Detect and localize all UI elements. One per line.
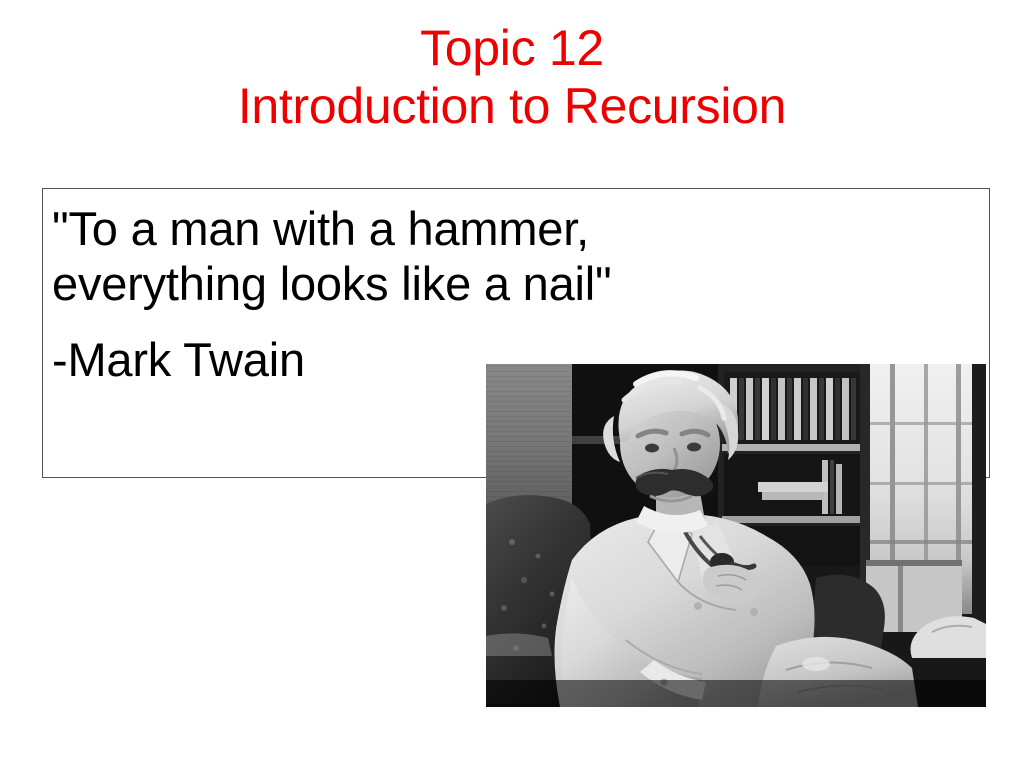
title-line-topic: Topic 12 bbox=[0, 20, 1024, 78]
title-line-subject: Introduction to Recursion bbox=[0, 78, 1024, 136]
mark-twain-photo-graphic bbox=[486, 364, 986, 707]
quote-line-2: everything looks like a nail" bbox=[52, 257, 982, 312]
quote-text-container: "To a man with a hammer, everything look… bbox=[52, 196, 982, 388]
quote-line-1: "To a man with a hammer, bbox=[52, 202, 982, 257]
presentation-slide: Topic 12 Introduction to Recursion "To a… bbox=[0, 0, 1024, 768]
mark-twain-photo bbox=[486, 364, 986, 707]
page-title: Topic 12 Introduction to Recursion bbox=[0, 20, 1024, 135]
